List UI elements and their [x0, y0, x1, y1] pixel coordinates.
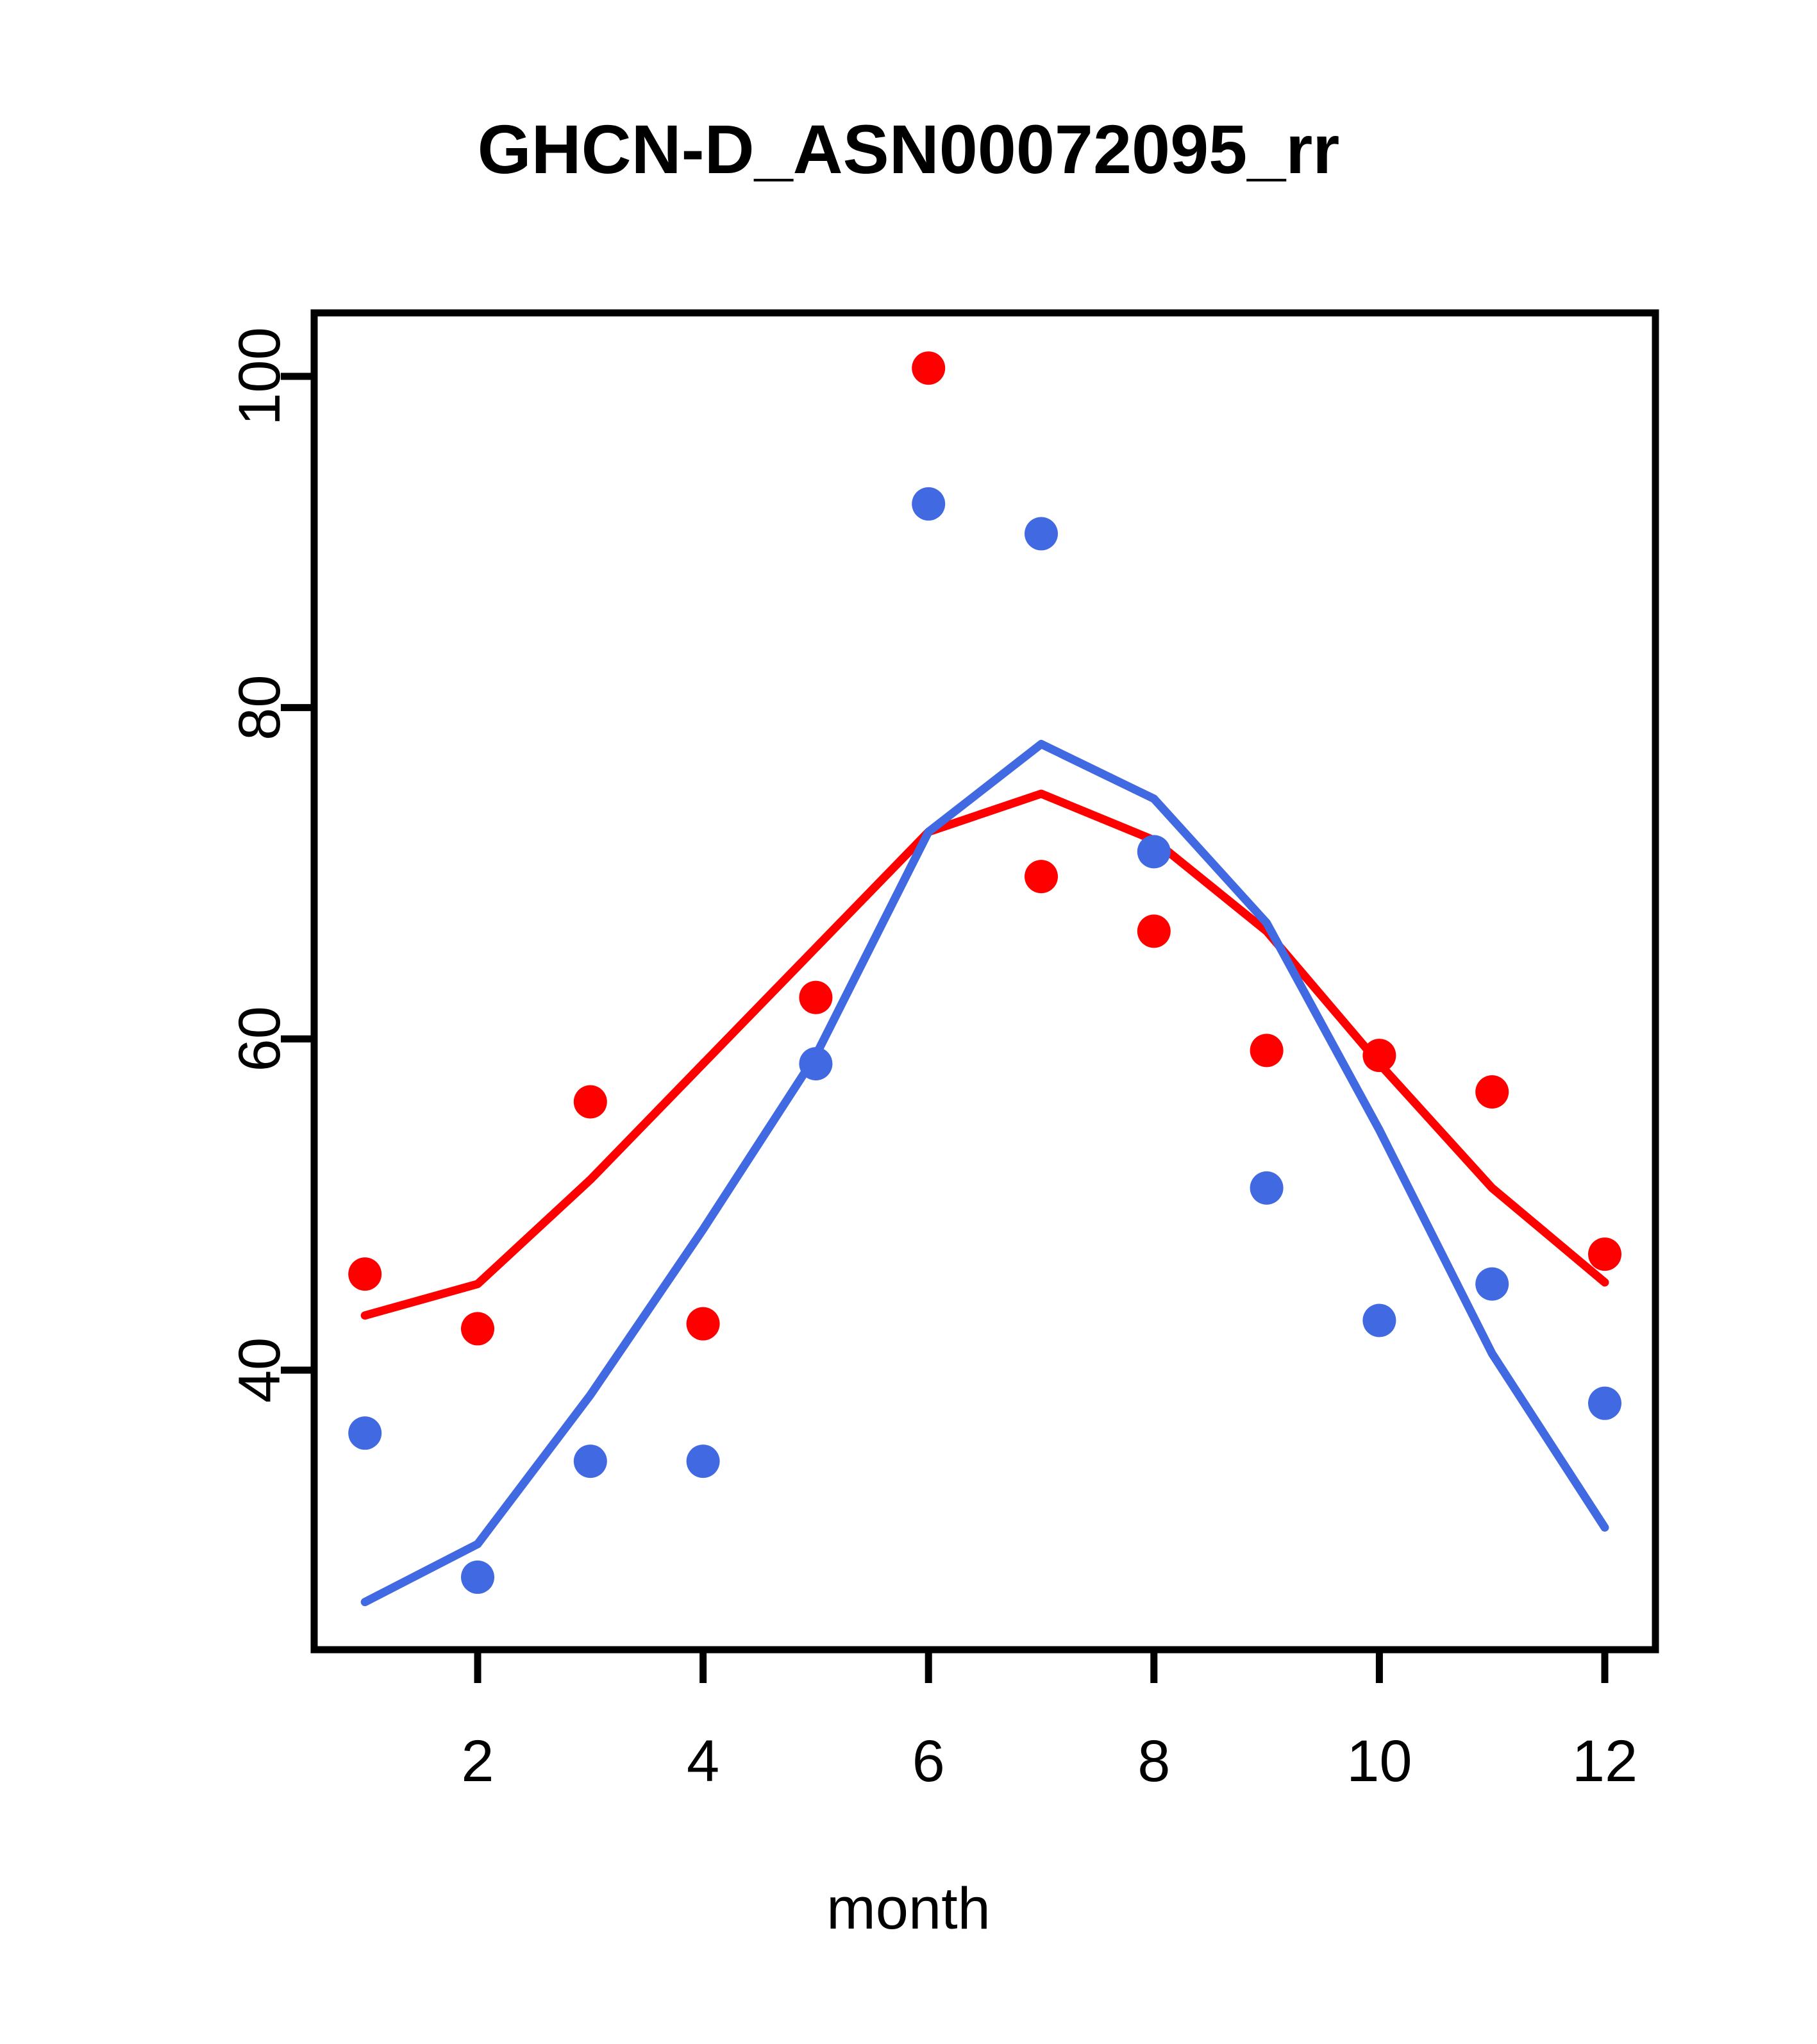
scatter-plot-canvas: 40608010024681012 — [0, 0, 1817, 2044]
series-points-red-points — [348, 351, 1621, 1345]
data-point — [1025, 860, 1058, 893]
data-point — [348, 1416, 381, 1450]
data-point — [1250, 1034, 1284, 1067]
y-axis-tick-label: 60 — [227, 1006, 292, 1071]
data-point — [687, 1445, 720, 1478]
x-axis-tick-label: 4 — [687, 1729, 719, 1794]
data-point — [1137, 914, 1171, 948]
x-axis-label: month — [0, 1875, 1817, 1943]
data-point — [1588, 1387, 1621, 1420]
data-point — [461, 1561, 494, 1594]
plot-inner — [348, 351, 1621, 1602]
data-point — [461, 1312, 494, 1345]
data-point — [574, 1445, 607, 1478]
x-axis-tick-label: 2 — [461, 1729, 494, 1794]
data-point — [799, 1047, 832, 1080]
data-point — [1025, 517, 1058, 550]
data-point — [799, 981, 832, 1014]
series-points-blue-points — [348, 487, 1621, 1594]
data-point — [1137, 835, 1171, 868]
plot-frame — [314, 313, 1655, 1650]
x-axis-tick-label: 10 — [1346, 1729, 1412, 1794]
chart-figure: GHCN-D_ASN00072095_rr 40608010024681012 … — [0, 0, 1817, 2044]
data-point — [1362, 1304, 1396, 1337]
data-point — [1588, 1237, 1621, 1271]
data-point — [574, 1085, 607, 1119]
data-point — [1250, 1171, 1284, 1205]
series-line-blue-line — [365, 744, 1605, 1602]
data-point — [912, 487, 945, 521]
y-axis-tick-label: 100 — [227, 327, 292, 426]
y-axis-tick-label: 80 — [227, 674, 292, 740]
data-point — [687, 1307, 720, 1341]
y-axis-tick-label: 40 — [227, 1337, 292, 1403]
data-point — [348, 1257, 381, 1291]
data-point — [912, 351, 945, 385]
x-axis-tick-label: 12 — [1572, 1729, 1637, 1794]
x-axis-tick-label: 6 — [912, 1729, 945, 1794]
data-point — [1475, 1075, 1509, 1109]
series-line-red-line — [365, 794, 1605, 1316]
x-axis-tick-label: 8 — [1137, 1729, 1170, 1794]
data-point — [1362, 1039, 1396, 1072]
data-point — [1475, 1268, 1509, 1301]
